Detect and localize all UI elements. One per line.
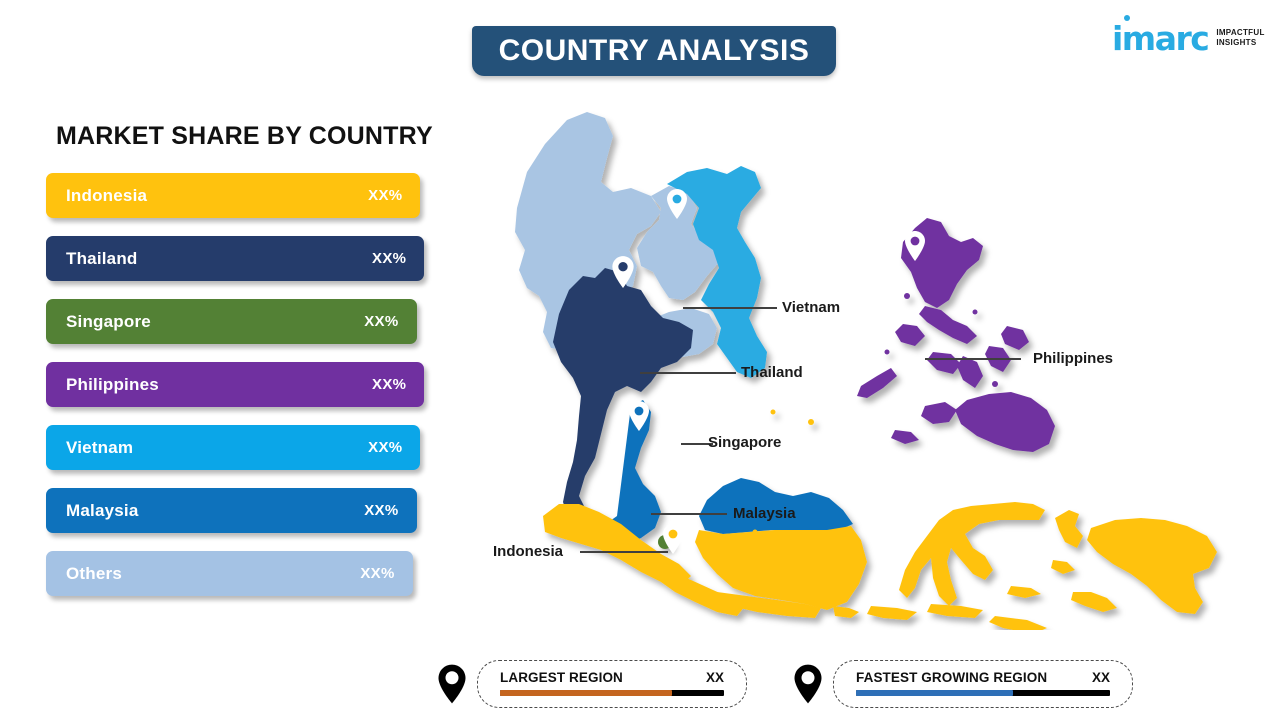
page-title-banner: COUNTRY ANALYSIS (472, 26, 836, 76)
fastest-growing-region-track (856, 690, 1110, 696)
share-bar-label: Singapore (66, 312, 151, 332)
imarc-logo: imarc IMPACTFUL INSIGHTS (1112, 18, 1264, 58)
map-region-maluku-small (1051, 560, 1075, 574)
map-isle-7 (753, 530, 758, 535)
map-label-philippines: Philippines (1033, 350, 1113, 367)
market-share-bar-list: IndonesiaXX%ThailandXX%SingaporeXX%Phili… (46, 173, 436, 614)
map-region-buru (1007, 586, 1041, 598)
map-isle-2 (885, 350, 890, 355)
map-region-lombok-sumbawa (867, 606, 917, 620)
map-svg (455, 100, 1245, 630)
map-region-halmahera (1055, 510, 1083, 548)
map-label-vietnam: Vietnam (782, 299, 840, 316)
largest-region-row: LARGEST REGION XX (500, 670, 724, 685)
map-label-singapore: Singapore (708, 434, 781, 451)
map-isle-5 (808, 419, 814, 425)
map-region-philippines-samar (1001, 326, 1029, 350)
map-pin-thailand (610, 255, 636, 289)
share-bar-value: XX% (364, 313, 398, 330)
map-label-thailand: Thailand (741, 364, 803, 381)
map-label-indonesia: Indonesia (493, 543, 563, 560)
map-pin-malaysia (627, 400, 651, 432)
share-bar-value: XX% (372, 376, 406, 393)
map-region-timor (989, 616, 1047, 630)
share-bar-label: Vietnam (66, 438, 133, 458)
map-region-philippines-panay (927, 352, 961, 374)
map-region-philippines-sulu (891, 430, 919, 444)
map-region-philippines-luzon-s (919, 306, 977, 344)
largest-region-fill (500, 690, 672, 696)
share-bar-value: XX% (368, 439, 402, 456)
logo-tagline: IMPACTFUL INSIGHTS (1216, 28, 1264, 48)
map-pin-philippines (903, 230, 927, 262)
location-pin-icon (793, 663, 823, 705)
logo-wordmark: imarc (1112, 22, 1208, 55)
largest-region-label: LARGEST REGION (500, 670, 623, 685)
location-pin-icon (437, 663, 467, 705)
logo-dot-icon (1124, 15, 1130, 21)
share-bar-label: Malaysia (66, 501, 138, 521)
leader-line-malaysia (651, 513, 727, 515)
map-isle-4 (992, 381, 998, 387)
map-region-philippines-palawan (857, 368, 897, 398)
fastest-growing-region-fill (856, 690, 1013, 696)
map-region-philippines-mindoro (895, 324, 925, 346)
fastest-growing-region-box: FASTEST GROWING REGION XX (833, 660, 1133, 708)
share-bar-label: Thailand (66, 249, 138, 269)
fastest-growing-region-label: FASTEST GROWING REGION (856, 670, 1047, 685)
map-region-philippines-mindanao (955, 392, 1055, 452)
share-bar-value: XX% (368, 187, 402, 204)
largest-region-track (500, 690, 724, 696)
fastest-growing-region-legend: FASTEST GROWING REGION XX (793, 660, 1133, 708)
largest-region-box: LARGEST REGION XX (477, 660, 747, 708)
share-bar-philippines[interactable]: PhilippinesXX% (46, 362, 424, 407)
slide-canvas: COUNTRY ANALYSIS imarc IMPACTFUL INSIGHT… (0, 0, 1280, 720)
share-bar-value: XX% (372, 250, 406, 267)
map-region-flores (927, 604, 983, 618)
share-bar-value: XX% (364, 502, 398, 519)
map-label-malaysia: Malaysia (733, 505, 796, 522)
share-bar-value: XX% (360, 565, 394, 582)
share-bar-label: Philippines (66, 375, 159, 395)
page-title: COUNTRY ANALYSIS (499, 34, 810, 68)
map-isle-6 (771, 410, 776, 415)
map-isle-1 (904, 293, 910, 299)
map-region-philippines-negros (957, 356, 983, 388)
map-pin-vietnam (665, 188, 689, 220)
share-bar-thailand[interactable]: ThailandXX% (46, 236, 424, 281)
market-share-heading: MARKET SHARE BY COUNTRY (56, 122, 433, 151)
share-bar-others[interactable]: OthersXX% (46, 551, 413, 596)
map-region-bali-chain (833, 606, 859, 618)
share-bar-malaysia[interactable]: MalaysiaXX% (46, 488, 417, 533)
largest-region-legend: LARGEST REGION XX (437, 660, 747, 708)
share-bar-vietnam[interactable]: VietnamXX% (46, 425, 420, 470)
leader-line-vietnam (683, 307, 777, 309)
largest-region-value: XX (680, 670, 724, 685)
logo-tagline-line2: INSIGHTS (1216, 38, 1256, 47)
share-bar-singapore[interactable]: SingaporeXX% (46, 299, 417, 344)
share-bar-indonesia[interactable]: IndonesiaXX% (46, 173, 420, 218)
share-bar-label: Others (66, 564, 122, 584)
southeast-asia-map: Vietnam Thailand Philippines Malaysia Si… (455, 100, 1245, 630)
share-bar-label: Indonesia (66, 186, 147, 206)
fastest-growing-region-value: XX (1066, 670, 1110, 685)
logo-tagline-line1: IMPACTFUL (1216, 28, 1264, 37)
leader-line-indonesia (580, 551, 668, 553)
map-region-philippines-mindanao-w (921, 402, 957, 424)
map-isle-3 (973, 310, 978, 315)
leader-line-philippines (925, 358, 1021, 360)
leader-line-thailand (640, 372, 736, 374)
fastest-growing-region-row: FASTEST GROWING REGION XX (856, 670, 1110, 685)
map-region-papua-tail (1071, 592, 1117, 612)
